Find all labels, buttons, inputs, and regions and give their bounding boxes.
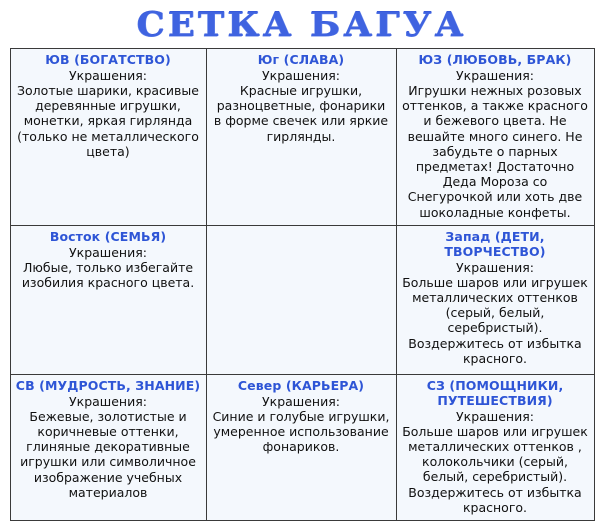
- page-title-container: СЕТКА БАГУА: [0, 0, 604, 48]
- sector-subtitle: Украшения:: [402, 260, 589, 275]
- sector-subtitle: Украшения:: [402, 68, 589, 83]
- table-row: ЮВ (БОГАТСТВО) Украшения: Золотые шарики…: [10, 49, 594, 226]
- sector-body: Больше шаров или игрушек металлических о…: [402, 275, 589, 366]
- page-title: СЕТКА БАГУА: [137, 8, 467, 42]
- sector-cell-east[interactable]: Восток (СЕМЬЯ) Украшения: Любые, только …: [10, 225, 206, 374]
- sector-subtitle: Украшения:: [212, 68, 391, 83]
- sector-cell-southwest[interactable]: ЮЗ (ЛЮБОВЬ, БРАК) Украшения: Игрушки неж…: [396, 49, 594, 226]
- sector-title: Север (КАРЬЕРА): [212, 378, 391, 393]
- bagua-table: ЮВ (БОГАТСТВО) Украшения: Золотые шарики…: [10, 48, 595, 521]
- bagua-grid-page: СЕТКА БАГУА ЮВ (БОГАТСТВО) Украшения: Зо…: [0, 0, 604, 526]
- sector-title: ЮЗ (ЛЮБОВЬ, БРАК): [402, 52, 589, 67]
- sector-title: СЗ (ПОМОЩНИКИ, ПУТЕШЕСТВИЯ): [402, 378, 589, 408]
- sector-subtitle: Украшения:: [212, 394, 391, 409]
- sector-title: Запад (ДЕТИ, ТВОРЧЕСТВО): [402, 229, 589, 259]
- sector-subtitle: Украшения:: [16, 245, 201, 260]
- sector-subtitle: Украшения:: [16, 68, 201, 83]
- sector-cell-northwest[interactable]: СЗ (ПОМОЩНИКИ, ПУТЕШЕСТВИЯ) Украшения: Б…: [396, 374, 594, 520]
- sector-subtitle: Украшения:: [16, 394, 201, 409]
- sector-cell-west[interactable]: Запад (ДЕТИ, ТВОРЧЕСТВО) Украшения: Боль…: [396, 225, 594, 374]
- sector-body: Бежевые, золотистые и коричневые оттенки…: [16, 409, 201, 500]
- sector-body: Больше шаров или игрушек металлических о…: [402, 424, 589, 515]
- table-row: Восток (СЕМЬЯ) Украшения: Любые, только …: [10, 225, 594, 374]
- sector-cell-north[interactable]: Север (КАРЬЕРА) Украшения: Синие и голуб…: [206, 374, 396, 520]
- sector-cell-southeast[interactable]: ЮВ (БОГАТСТВО) Украшения: Золотые шарики…: [10, 49, 206, 226]
- sector-cell-center-empty[interactable]: [206, 225, 396, 374]
- sector-title: СВ (МУДРОСТЬ, ЗНАНИЕ): [16, 378, 201, 393]
- sector-title: Восток (СЕМЬЯ): [16, 229, 201, 244]
- sector-body: Золотые шарики, красивые деревянные игру…: [16, 83, 201, 159]
- table-row: СВ (МУДРОСТЬ, ЗНАНИЕ) Украшения: Бежевые…: [10, 374, 594, 520]
- sector-body: Синие и голубые игрушки, умеренное испол…: [212, 409, 391, 455]
- sector-body: Красные игрушки, разноцветные, фонарики …: [212, 83, 391, 144]
- sector-cell-northeast[interactable]: СВ (МУДРОСТЬ, ЗНАНИЕ) Украшения: Бежевые…: [10, 374, 206, 520]
- sector-subtitle: Украшения:: [402, 409, 589, 424]
- sector-body: Игрушки нежных розовых оттенков, а также…: [402, 83, 589, 220]
- sector-title: Юг (СЛАВА): [212, 52, 391, 67]
- sector-title: ЮВ (БОГАТСТВО): [16, 52, 201, 67]
- sector-body: Любые, только избегайте изобилия красног…: [16, 260, 201, 290]
- sector-cell-south[interactable]: Юг (СЛАВА) Украшения: Красные игрушки, р…: [206, 49, 396, 226]
